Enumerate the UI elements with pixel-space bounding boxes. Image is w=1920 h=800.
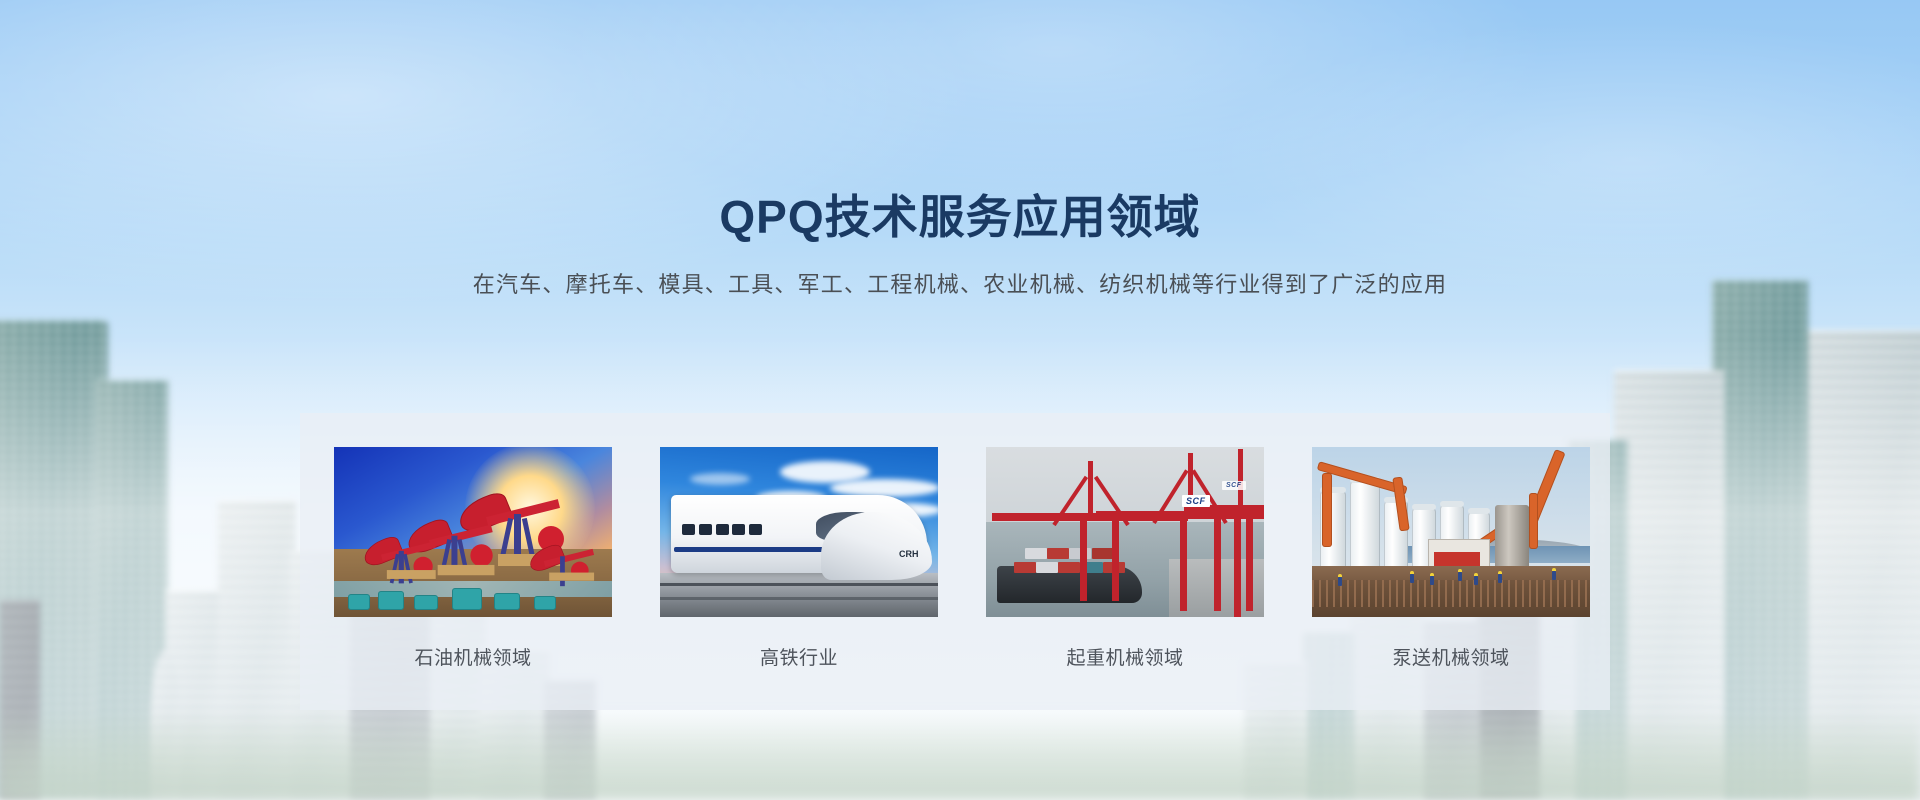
pump-boom-arm	[1529, 493, 1538, 549]
pumpjack	[529, 544, 583, 578]
application-fields-panel: 石油机械领域	[300, 413, 1610, 710]
worker	[1430, 576, 1434, 585]
cement-silo	[1350, 481, 1380, 569]
train-window	[716, 524, 729, 535]
wellhead-equipment	[348, 594, 370, 610]
application-card-rail[interactable]: CRH 高铁行业	[660, 447, 938, 670]
card-caption: 泵送机械领域	[1312, 643, 1590, 670]
card-caption: 起重机械领域	[986, 643, 1264, 670]
wellhead-equipment	[414, 595, 438, 610]
oil-pumpjacks-at-sunset-photo[interactable]	[334, 447, 612, 617]
worker	[1410, 574, 1414, 583]
card-caption: 高铁行业	[660, 643, 938, 670]
rebar-grid	[1312, 580, 1590, 607]
crane-logo-text: SCF	[1222, 481, 1246, 490]
train-window	[699, 524, 712, 535]
page-title: QPQ技术服务应用领域	[0, 190, 1920, 245]
application-card-lifting[interactable]: SCF SCF 起重机械领域	[986, 447, 1264, 670]
crh-high-speed-train-photo[interactable]: CRH	[660, 447, 938, 617]
gantry-crane	[1184, 449, 1264, 617]
train-window	[682, 524, 695, 535]
application-card-oil[interactable]: 石油机械领域	[334, 447, 612, 670]
application-card-list: 石油机械领域	[334, 447, 1590, 670]
pumpjack	[363, 536, 427, 576]
crane-logo-text: SCF	[1182, 495, 1210, 507]
worker	[1458, 572, 1462, 581]
worker	[1498, 574, 1502, 583]
application-card-pumping[interactable]: 泵送机械领域	[1312, 447, 1590, 670]
card-caption: 石油机械领域	[334, 643, 612, 670]
worker	[1552, 571, 1556, 580]
heading-block: QPQ技术服务应用领域 在汽车、摩托车、模具、工具、军工、工程机械、农业机械、纺…	[0, 190, 1920, 299]
rail	[660, 583, 938, 586]
train-window	[749, 524, 762, 535]
rail	[660, 597, 938, 600]
wellhead-equipment	[494, 593, 520, 610]
page-subtitle: 在汽车、摩托车、模具、工具、军工、工程机械、农业机械、纺织机械等行业得到了广泛的…	[0, 267, 1920, 299]
wellhead-equipment	[452, 588, 482, 610]
train-window	[732, 524, 745, 535]
red-port-gantry-cranes-photo[interactable]: SCF SCF	[986, 447, 1264, 617]
cloud	[690, 473, 750, 485]
wellhead-equipment	[534, 596, 556, 610]
site-banner	[1434, 552, 1480, 566]
worker	[1338, 577, 1342, 586]
train-logo-text: CRH	[899, 549, 919, 559]
concrete-pumping-machinery-photo[interactable]	[1312, 447, 1590, 617]
page-content: QPQ技术服务应用领域 在汽车、摩托车、模具、工具、军工、工程机械、农业机械、纺…	[0, 0, 1920, 800]
pump-boom-arm	[1322, 473, 1332, 547]
wellhead-equipment	[378, 591, 404, 610]
worker	[1474, 576, 1478, 585]
